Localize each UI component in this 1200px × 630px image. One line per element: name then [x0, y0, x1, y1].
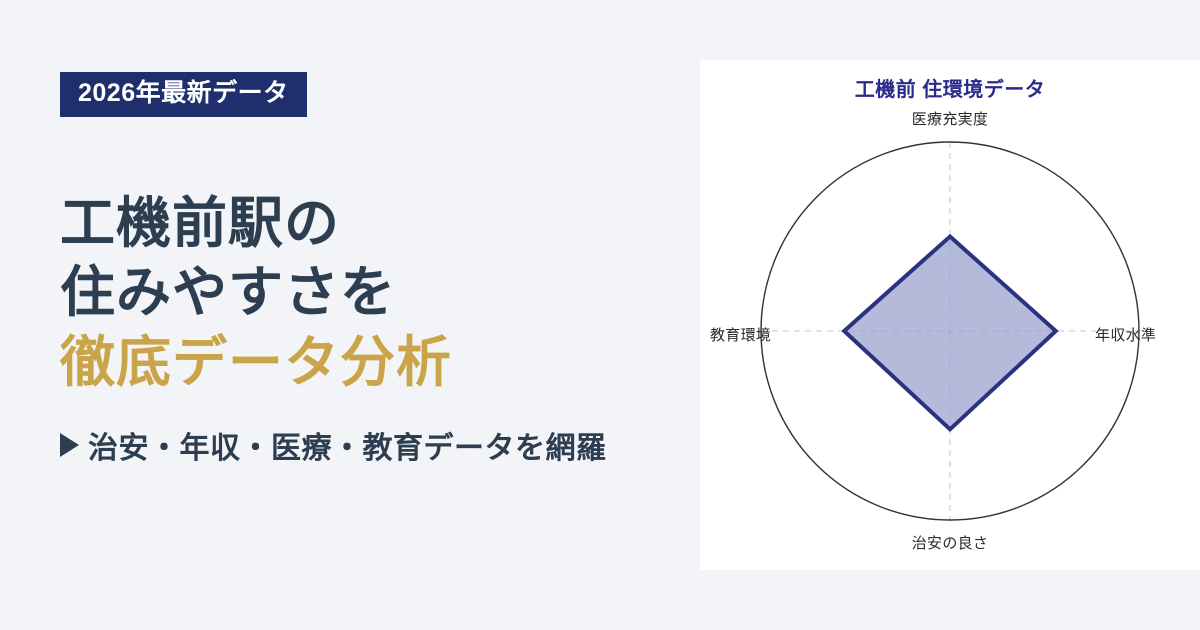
radar-data-polygon: [844, 237, 1056, 430]
subtitle: 治安・年収・医療・教育データを網羅: [60, 423, 700, 467]
radar-chart-svg: [700, 60, 1200, 570]
headline-line-2: 住みやすさを: [60, 258, 700, 327]
headline-line-3-accent: 徹底データ分析: [60, 328, 700, 397]
axis-label-right: 年収水準: [1095, 324, 1156, 345]
axis-label-top: 医療充実度: [700, 108, 1200, 129]
left-text-column: 2026年最新データ 工機前駅の 住みやすさを 徹底データ分析 治安・年収・医療…: [60, 72, 700, 467]
subtitle-text: 治安・年収・医療・教育データを網羅: [88, 423, 607, 467]
axis-label-bottom: 治安の良さ: [700, 532, 1200, 553]
triangle-right-icon: [60, 433, 79, 457]
page-title: 工機前駅の 住みやすさを 徹底データ分析: [60, 189, 700, 397]
ogp-canvas: 2026年最新データ 工機前駅の 住みやすさを 徹底データ分析 治安・年収・医療…: [0, 0, 1200, 630]
radar-chart-card: 工機前 住環境データ 医療充実度 年収水準 治安の良さ 教育環境: [700, 60, 1200, 570]
latest-data-badge: 2026年最新データ: [60, 72, 307, 117]
headline-line-1: 工機前駅の: [60, 189, 700, 258]
axis-label-left: 教育環境: [710, 324, 771, 345]
